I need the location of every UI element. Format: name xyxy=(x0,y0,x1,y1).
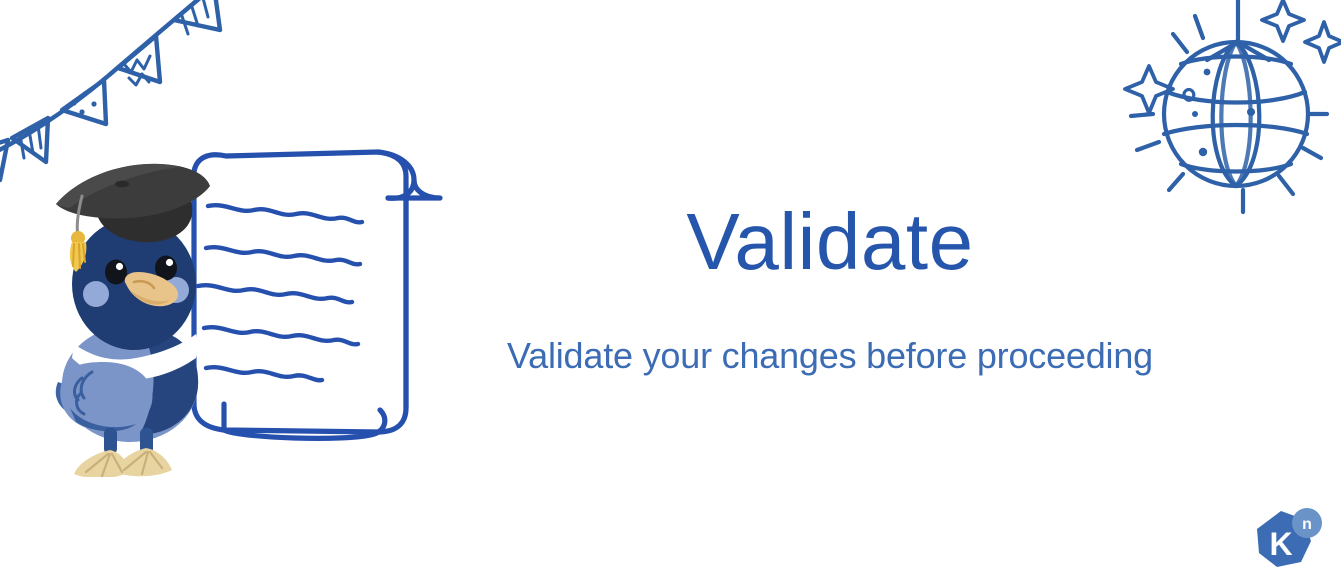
logo-letter-n: n xyxy=(1302,516,1312,533)
graduate-bird-mascot xyxy=(56,164,210,477)
slide-canvas: Validate Validate your changes before pr… xyxy=(0,0,1341,585)
slide-text-block: Validate Validate your changes before pr… xyxy=(470,200,1190,377)
page-subtitle: Validate your changes before proceeding xyxy=(470,334,1190,377)
scroll-document-icon xyxy=(194,152,440,438)
disco-ball-icon xyxy=(1111,0,1341,229)
logo-letter-k: K xyxy=(1269,526,1292,562)
mascot-with-scroll xyxy=(48,132,468,477)
kn-logo: K n xyxy=(1251,505,1323,577)
page-title: Validate xyxy=(470,200,1190,284)
